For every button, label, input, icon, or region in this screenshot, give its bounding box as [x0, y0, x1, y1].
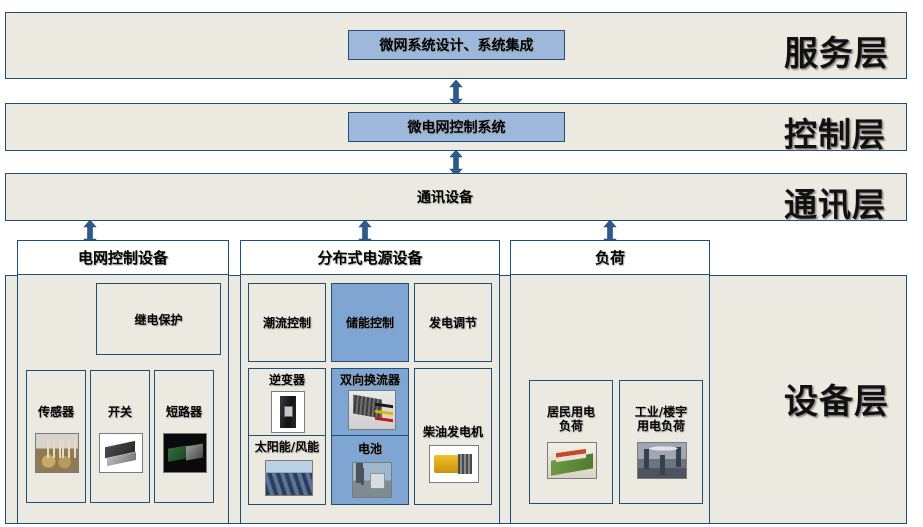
box-solar-wind[interactable]: 太阳能/风能 — [248, 435, 326, 505]
panel-distributed-generation: 分布式电源设备 潮流控制 储能控制 发电调节 逆变器 双向换流器 — [240, 240, 500, 524]
panel-distributed-generation-body: 潮流控制 储能控制 发电调节 逆变器 双向换流器 柴油发电机 — [241, 275, 499, 523]
panel-grid-control-body: 继电保护 传感器 开关 短路器 — [18, 275, 228, 523]
box-relay-protection-label: 继电保护 — [97, 313, 220, 327]
box-solar-wind-label: 太阳能/风能 — [249, 440, 325, 454]
box-battery-label: 电池 — [332, 442, 408, 456]
box-circuit-breaker-label: 短路器 — [155, 405, 213, 419]
industrial-photo-icon — [637, 442, 687, 479]
box-relay-protection[interactable]: 继电保护 — [96, 283, 221, 355]
box-bidirectional-converter-label: 双向换流器 — [332, 373, 408, 387]
service-layer-box[interactable]: 微网系统设计、系统集成 — [348, 30, 565, 60]
circuit-breaker-photo-icon — [163, 433, 207, 473]
panel-load-body: 居民用电 负荷 工业/楼宇 用电负荷 — [511, 275, 709, 523]
box-sensor-label: 传感器 — [27, 405, 85, 419]
sensor-photo-icon — [35, 433, 79, 473]
panel-load-title: 负荷 — [511, 241, 709, 275]
box-sensor[interactable]: 传感器 — [26, 370, 86, 503]
box-energy-storage-control[interactable]: 储能控制 — [331, 283, 409, 362]
box-generation-regulation-label: 发电调节 — [415, 316, 491, 330]
box-residential-load[interactable]: 居民用电 负荷 — [529, 380, 613, 504]
device-layer-title: 设备层 — [784, 374, 889, 423]
panel-grid-control-title: 电网控制设备 — [18, 241, 228, 275]
box-industrial-load-label: 工业/楼宇 用电负荷 — [620, 405, 702, 433]
solar-wind-photo-icon — [265, 460, 313, 496]
box-power-flow-control[interactable]: 潮流控制 — [248, 283, 326, 362]
switch-photo-icon — [99, 433, 143, 473]
service-layer-title: 服务层 — [784, 26, 889, 75]
architecture-diagram: 微网系统设计、系统集成 服务层 微电网控制系统 控制层 通讯设备 通讯层 设备层… — [0, 0, 923, 527]
bidirectional-converter-photo-icon — [348, 390, 396, 430]
panel-load: 负荷 居民用电 负荷 工业/楼宇 用电负荷 — [510, 240, 710, 524]
battery-photo-icon — [352, 462, 392, 498]
communication-layer-title: 通讯层 — [784, 178, 886, 226]
box-residential-load-label: 居民用电 负荷 — [530, 405, 612, 433]
panel-grid-control: 电网控制设备 继电保护 传感器 开关 短路器 — [17, 240, 229, 524]
box-inverter[interactable]: 逆变器 — [248, 368, 326, 438]
box-industrial-load[interactable]: 工业/楼宇 用电负荷 — [619, 380, 703, 504]
box-diesel-generator-label: 柴油发电机 — [415, 425, 491, 439]
box-bidirectional-converter[interactable]: 双向换流器 — [331, 368, 409, 438]
control-layer-title: 控制层 — [784, 108, 886, 156]
panel-distributed-generation-title: 分布式电源设备 — [241, 241, 499, 275]
box-energy-storage-control-label: 储能控制 — [332, 316, 408, 330]
box-battery[interactable]: 电池 — [331, 435, 409, 505]
diesel-generator-photo-icon — [429, 445, 479, 483]
box-power-flow-control-label: 潮流控制 — [249, 316, 325, 330]
box-diesel-generator[interactable]: 柴油发电机 — [414, 368, 492, 505]
residential-photo-icon — [547, 442, 597, 479]
communication-equipment-label: 通讯设备 — [417, 187, 473, 207]
box-switch[interactable]: 开关 — [90, 370, 150, 503]
box-circuit-breaker[interactable]: 短路器 — [154, 370, 214, 503]
inverter-photo-icon — [271, 391, 305, 433]
box-generation-regulation[interactable]: 发电调节 — [414, 283, 492, 362]
control-layer-box[interactable]: 微电网控制系统 — [348, 112, 565, 142]
box-inverter-label: 逆变器 — [249, 373, 325, 387]
box-switch-label: 开关 — [91, 405, 149, 419]
